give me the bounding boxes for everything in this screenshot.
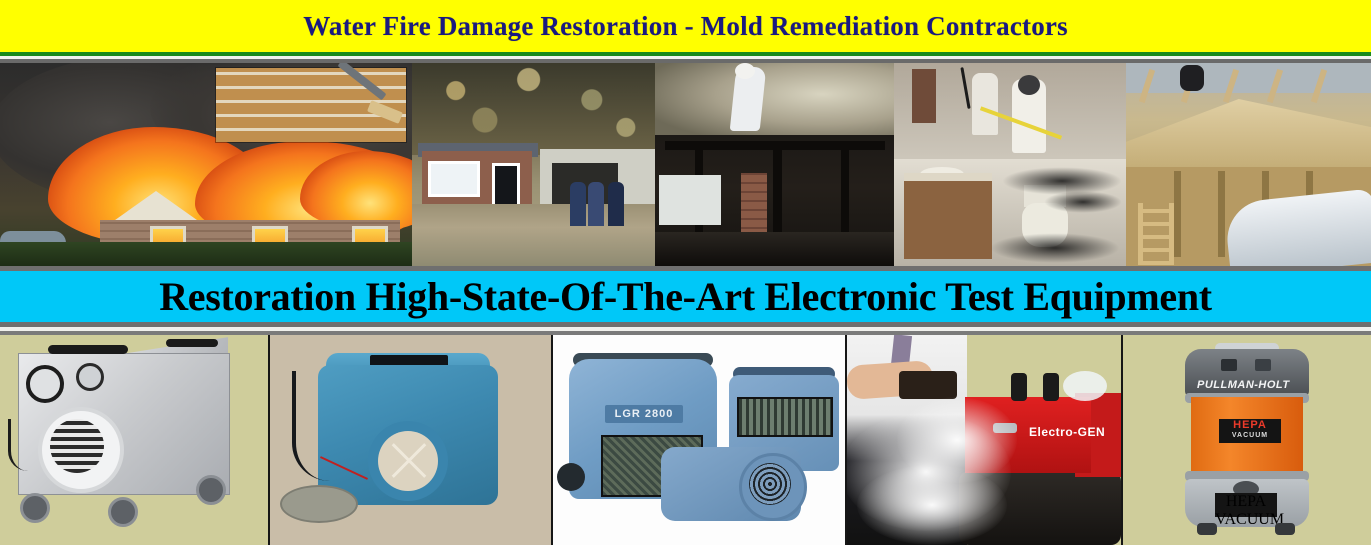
- product-label: PULLMAN-HOLT: [1197, 379, 1290, 391]
- fan-grill: [50, 419, 104, 473]
- power-cord: [292, 371, 330, 481]
- product-label: Electro-GEN: [1029, 425, 1105, 439]
- charred-stud: [773, 149, 782, 241]
- equipment-banner-title: Restoration High-State-Of-The-Art Electr…: [159, 273, 1212, 320]
- hepa-badge-title: HEPA: [1219, 419, 1281, 431]
- product-hepa-vacuum-pullman-holt[interactable]: PULLMAN-HOLT HEPA VACUUM HEPA VACUUM: [1123, 335, 1371, 545]
- product-lgr-dehumidifier-air-movers[interactable]: LGR 2800: [553, 335, 847, 545]
- page-title: Water Fire Damage Restoration - Mold Rem…: [303, 11, 1068, 42]
- wall-stud: [1174, 171, 1181, 257]
- collage-panel-flood-damage: [412, 63, 655, 266]
- product-label: LGR 2800: [605, 405, 683, 423]
- caster-wheel: [108, 497, 138, 527]
- solution-tank: [1063, 371, 1107, 401]
- hepa-badge-subtitle: VACUUM: [1219, 431, 1281, 440]
- collage-panel-reconstruction: [1126, 63, 1371, 266]
- base-foot: [1275, 523, 1295, 535]
- top-banner: Water Fire Damage Restoration - Mold Rem…: [0, 0, 1371, 52]
- pressure-gauge-icon: [26, 365, 64, 403]
- damage-photo-collage: [0, 63, 1371, 266]
- hepa-badge-title: HEPA: [1215, 493, 1277, 511]
- base-foot: [1197, 523, 1217, 535]
- handheld-remote: [899, 371, 957, 399]
- hepa-badge-upper: HEPA VACUUM: [1219, 419, 1281, 443]
- water-texture: [412, 63, 655, 155]
- trowel-blade-icon: [367, 100, 403, 124]
- roof-sheathing: [1126, 99, 1371, 173]
- collage-panel-house-fire: [0, 63, 412, 266]
- product-air-scrubber-omni-aire[interactable]: OMNI-AIRE 600V AIR FILTRATION SYSTEM: [0, 335, 270, 545]
- equipment-photo-row: OMNI-AIRE 600V AIR FILTRATION SYSTEM: [0, 335, 1371, 545]
- technician-hood: [735, 63, 755, 79]
- blown-out-window: [659, 175, 721, 225]
- collage-panel-mold-remediation: [894, 63, 1126, 266]
- fogger-knob-icon: [1011, 373, 1027, 401]
- mold-growth: [990, 233, 1120, 263]
- worker-in-hazmat-suit: [972, 73, 998, 135]
- power-cord: [8, 419, 41, 471]
- room-doorway: [912, 69, 936, 123]
- wall-stud: [1218, 171, 1225, 257]
- product-thermal-fogger[interactable]: Electro-GEN: [847, 335, 1123, 545]
- bathroom-vanity: [904, 173, 992, 259]
- caster-wheel: [20, 493, 50, 523]
- brick-tuckpointing-inset: [216, 68, 406, 142]
- fogger-knob-icon: [1043, 373, 1059, 401]
- flood-house-window: [428, 161, 480, 197]
- collage-panel-fire-damaged-interior: [655, 63, 894, 266]
- power-switch-icon: [1221, 359, 1237, 371]
- mold-growth: [1044, 191, 1122, 213]
- trowel-handle-icon: [337, 63, 386, 100]
- equipment-banner: Restoration High-State-Of-The-Art Electr…: [0, 271, 1371, 322]
- caster-wheel: [196, 475, 226, 505]
- person-in-floodwater: [570, 182, 586, 226]
- charred-stud: [841, 149, 849, 233]
- debris-pile: [655, 232, 894, 266]
- person-in-floodwater: [608, 182, 624, 226]
- floor-disc: [280, 485, 358, 523]
- hepa-badge-lower: HEPA VACUUM: [1215, 493, 1277, 517]
- ladder: [1138, 203, 1174, 265]
- page-root: Water Fire Damage Restoration - Mold Rem…: [0, 0, 1371, 545]
- roofer-worker: [1180, 65, 1204, 91]
- respirator-hood: [1018, 75, 1040, 95]
- air-mover-fan-grill: [749, 463, 791, 505]
- damaged-ceiling: [655, 63, 894, 141]
- control-knob-icon: [76, 363, 104, 391]
- air-mover-grill: [737, 397, 833, 437]
- fog-cloud: [857, 465, 1007, 545]
- carry-handle: [166, 339, 218, 347]
- sky: [1126, 63, 1371, 93]
- transport-wheel: [557, 463, 585, 491]
- carry-handle: [48, 345, 128, 354]
- product-hepa-air-scrubber-blue[interactable]: [270, 335, 553, 545]
- front-lawn: [0, 242, 412, 266]
- person-in-floodwater: [588, 182, 604, 226]
- power-switch-icon: [1255, 359, 1271, 371]
- filter-brace: [378, 431, 438, 491]
- hepa-badge-subtitle: VACUUM: [1215, 511, 1277, 529]
